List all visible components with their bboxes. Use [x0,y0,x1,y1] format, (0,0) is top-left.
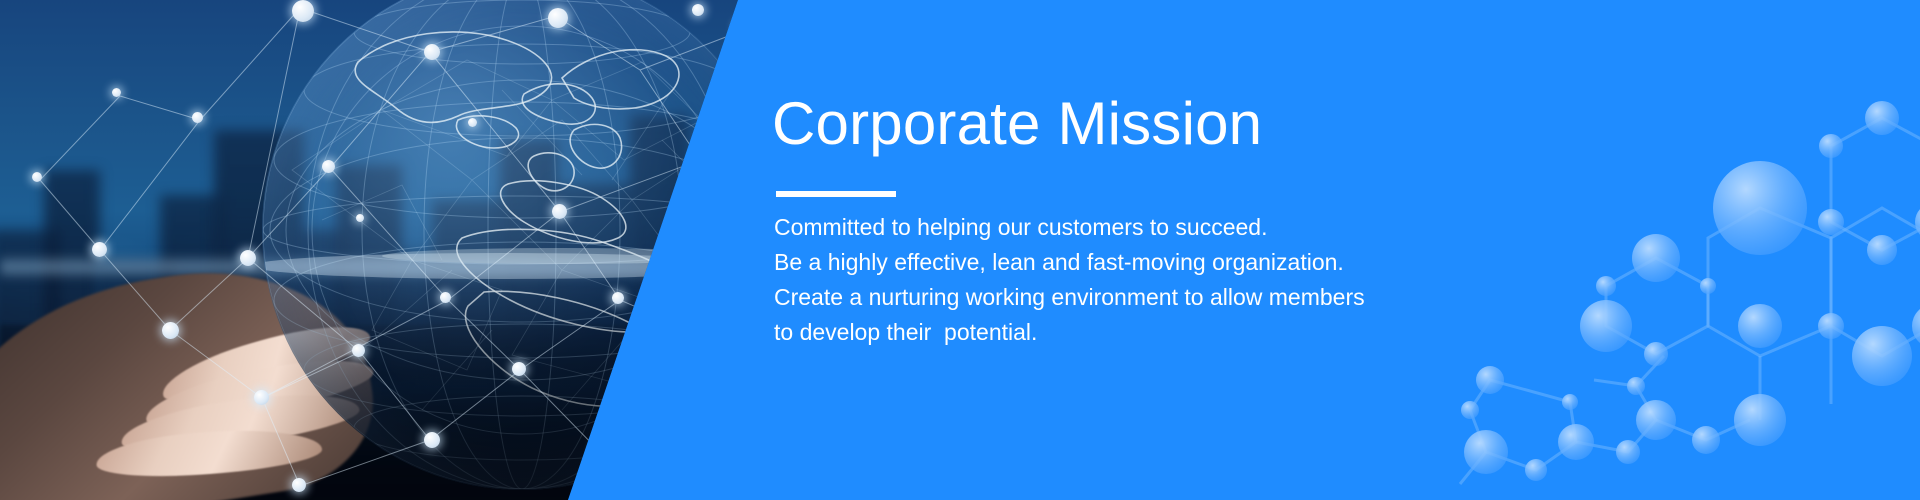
mission-line: Be a highly effective, lean and fast-mov… [774,245,1394,280]
network-node [512,362,526,376]
mission-line: Committed to helping our customers to su… [774,210,1394,245]
network-node [192,112,203,123]
title-divider [776,191,896,197]
corporate-mission-banner: Corporate Mission Committed to helping o… [0,0,1920,500]
network-node [32,172,42,182]
page-title: Corporate Mission [772,92,1262,155]
mission-line: Create a nurturing working environment t… [774,280,1394,315]
network-node [440,292,451,303]
network-node [692,4,704,16]
network-node [292,478,306,492]
network-node [292,0,314,22]
network-node [424,44,440,60]
network-node [92,242,107,257]
network-node [548,8,568,28]
network-node [112,88,121,97]
network-node [240,250,256,266]
network-node [468,118,477,127]
network-node [424,432,440,448]
network-node [322,160,335,173]
mission-content: Corporate Mission Committed to helping o… [772,0,1472,500]
mission-line: to develop their potential. [774,315,1394,350]
network-node [254,390,269,405]
network-node [612,292,624,304]
mission-statement: Committed to helping our customers to su… [774,210,1394,350]
network-node [552,204,567,219]
network-node [356,214,364,222]
network-node [162,322,179,339]
network-node [352,344,365,357]
